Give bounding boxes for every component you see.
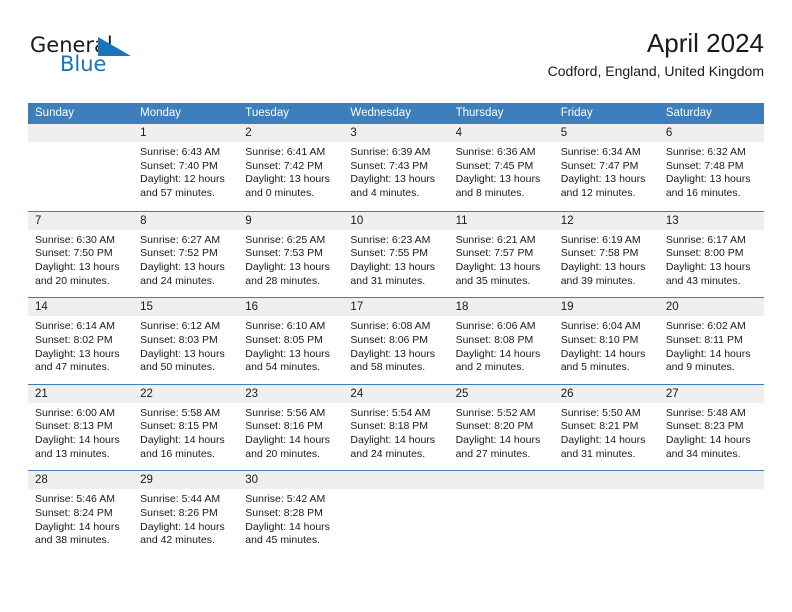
day-detail-line: and 54 minutes. [245, 361, 336, 375]
day-detail-line: and 20 minutes. [245, 448, 336, 462]
day-detail-line: and 16 minutes. [140, 448, 231, 462]
day-detail-line: Sunset: 7:48 PM [666, 160, 757, 174]
day-cell[interactable]: Sunrise: 6:19 AMSunset: 7:58 PMDaylight:… [554, 230, 659, 297]
day-detail-line: Sunrise: 5:48 AM [666, 407, 757, 421]
day-detail-line: Sunset: 7:40 PM [140, 160, 231, 174]
day-number[interactable]: 11 [449, 212, 554, 230]
day-detail-line: Daylight: 13 hours [245, 348, 336, 362]
day-detail-line: Sunrise: 6:34 AM [561, 146, 652, 160]
calendar-week-row: 78910111213Sunrise: 6:30 AMSunset: 7:50 … [28, 211, 764, 298]
day-detail-line: Daylight: 13 hours [561, 173, 652, 187]
day-cell[interactable]: Sunrise: 6:02 AMSunset: 8:11 PMDaylight:… [659, 316, 764, 383]
day-detail-line: Daylight: 14 hours [561, 348, 652, 362]
day-detail-line: Sunset: 8:11 PM [666, 334, 757, 348]
day-number[interactable]: 13 [659, 212, 764, 230]
day-number-band: 78910111213 [28, 212, 764, 230]
day-cell[interactable]: Sunrise: 6:00 AMSunset: 8:13 PMDaylight:… [28, 403, 133, 470]
day-detail-line: Sunset: 8:08 PM [456, 334, 547, 348]
day-detail-line: and 35 minutes. [456, 275, 547, 289]
day-number[interactable]: 7 [28, 212, 133, 230]
day-detail-line: and 47 minutes. [35, 361, 126, 375]
day-detail-line: Sunrise: 6:30 AM [35, 234, 126, 248]
day-detail-line: Daylight: 13 hours [35, 348, 126, 362]
day-detail-line: Sunrise: 6:08 AM [350, 320, 441, 334]
day-detail-line: Daylight: 13 hours [245, 173, 336, 187]
day-detail-line: and 9 minutes. [666, 361, 757, 375]
day-cell[interactable]: Sunrise: 5:48 AMSunset: 8:23 PMDaylight:… [659, 403, 764, 470]
day-detail-band: Sunrise: 6:30 AMSunset: 7:50 PMDaylight:… [28, 230, 764, 297]
day-cell[interactable]: Sunrise: 5:42 AMSunset: 8:28 PMDaylight:… [238, 489, 343, 556]
day-detail-line: Sunrise: 5:52 AM [456, 407, 547, 421]
day-detail-line: and 4 minutes. [350, 187, 441, 201]
day-cell[interactable]: Sunrise: 5:50 AMSunset: 8:21 PMDaylight:… [554, 403, 659, 470]
day-cell-empty [28, 142, 133, 209]
day-detail-line: Sunrise: 6:32 AM [666, 146, 757, 160]
day-cell[interactable]: Sunrise: 6:25 AMSunset: 7:53 PMDaylight:… [238, 230, 343, 297]
day-detail-line: Sunrise: 6:06 AM [456, 320, 547, 334]
day-detail-line: Sunset: 8:06 PM [350, 334, 441, 348]
day-number[interactable]: 25 [449, 385, 554, 403]
day-number-band: 282930 [28, 471, 764, 489]
day-number[interactable]: 29 [133, 471, 238, 489]
day-number[interactable]: 6 [659, 124, 764, 142]
day-detail-band: Sunrise: 5:46 AMSunset: 8:24 PMDaylight:… [28, 489, 764, 556]
day-detail-line: Sunset: 8:03 PM [140, 334, 231, 348]
day-detail-line: Sunset: 8:10 PM [561, 334, 652, 348]
day-detail-line: Sunset: 8:16 PM [245, 420, 336, 434]
day-number[interactable]: 12 [554, 212, 659, 230]
day-detail-line: Sunrise: 5:44 AM [140, 493, 231, 507]
day-detail-line: Sunset: 7:58 PM [561, 247, 652, 261]
day-detail-line: Daylight: 13 hours [456, 261, 547, 275]
calendar-page: General Blue April 2024 Codford, England… [0, 0, 792, 612]
day-detail-band: Sunrise: 6:00 AMSunset: 8:13 PMDaylight:… [28, 403, 764, 470]
day-cell[interactable]: Sunrise: 6:21 AMSunset: 7:57 PMDaylight:… [449, 230, 554, 297]
day-number[interactable]: 22 [133, 385, 238, 403]
day-detail-line: Sunrise: 6:17 AM [666, 234, 757, 248]
day-number[interactable]: 16 [238, 298, 343, 316]
day-detail-line: and 34 minutes. [666, 448, 757, 462]
day-detail-line: Sunrise: 6:43 AM [140, 146, 231, 160]
day-detail-line: Daylight: 14 hours [666, 348, 757, 362]
day-detail-line: Daylight: 13 hours [35, 261, 126, 275]
day-detail-line: and 39 minutes. [561, 275, 652, 289]
day-cell-empty [449, 489, 554, 556]
day-detail-line: Sunrise: 5:46 AM [35, 493, 126, 507]
page-subtitle: Codford, England, United Kingdom [548, 63, 764, 80]
day-detail-line: and 2 minutes. [456, 361, 547, 375]
day-detail-line: and 31 minutes. [350, 275, 441, 289]
day-number[interactable]: 23 [238, 385, 343, 403]
day-number-empty [28, 124, 133, 142]
day-detail-line: Daylight: 14 hours [35, 521, 126, 535]
day-detail-line: Sunset: 7:43 PM [350, 160, 441, 174]
day-detail-line: and 50 minutes. [140, 361, 231, 375]
day-cell[interactable]: Sunrise: 6:41 AMSunset: 7:42 PMDaylight:… [238, 142, 343, 209]
day-detail-line: and 16 minutes. [666, 187, 757, 201]
day-number-band: 14151617181920 [28, 298, 764, 316]
day-number[interactable]: 15 [133, 298, 238, 316]
day-cell-empty [343, 489, 448, 556]
day-cell[interactable]: Sunrise: 6:17 AMSunset: 8:00 PMDaylight:… [659, 230, 764, 297]
day-detail-line: Sunset: 8:23 PM [666, 420, 757, 434]
day-detail-line: Daylight: 14 hours [140, 434, 231, 448]
day-detail-band: Sunrise: 6:14 AMSunset: 8:02 PMDaylight:… [28, 316, 764, 383]
day-number[interactable]: 27 [659, 385, 764, 403]
day-detail-line: Daylight: 13 hours [245, 261, 336, 275]
day-detail-line: and 20 minutes. [35, 275, 126, 289]
day-detail-line: Sunrise: 5:58 AM [140, 407, 231, 421]
day-detail-line: and 12 minutes. [561, 187, 652, 201]
day-detail-line: and 38 minutes. [35, 534, 126, 548]
day-cell-empty [659, 489, 764, 556]
day-cell[interactable]: Sunrise: 5:58 AMSunset: 8:15 PMDaylight:… [133, 403, 238, 470]
day-detail-line: Sunset: 7:55 PM [350, 247, 441, 261]
day-detail-line: and 42 minutes. [140, 534, 231, 548]
calendar-week-row: 282930Sunrise: 5:46 AMSunset: 8:24 PMDay… [28, 470, 764, 557]
day-cell[interactable]: Sunrise: 5:56 AMSunset: 8:16 PMDaylight:… [238, 403, 343, 470]
day-detail-line: Sunrise: 6:27 AM [140, 234, 231, 248]
weekday-header-friday: Friday [554, 103, 659, 124]
day-detail-band: Sunrise: 6:43 AMSunset: 7:40 PMDaylight:… [28, 142, 764, 209]
day-cell[interactable]: Sunrise: 6:43 AMSunset: 7:40 PMDaylight:… [133, 142, 238, 209]
weekday-header-thursday: Thursday [449, 103, 554, 124]
day-detail-line: Sunrise: 6:21 AM [456, 234, 547, 248]
day-detail-line: Sunrise: 6:39 AM [350, 146, 441, 160]
day-detail-line: and 31 minutes. [561, 448, 652, 462]
day-cell[interactable]: Sunrise: 5:44 AMSunset: 8:26 PMDaylight:… [133, 489, 238, 556]
calendar-week-row: 21222324252627Sunrise: 6:00 AMSunset: 8:… [28, 384, 764, 471]
calendar-grid: Sunday Monday Tuesday Wednesday Thursday… [28, 103, 764, 557]
day-cell[interactable]: Sunrise: 5:46 AMSunset: 8:24 PMDaylight:… [28, 489, 133, 556]
day-cell[interactable]: Sunrise: 6:04 AMSunset: 8:10 PMDaylight:… [554, 316, 659, 383]
day-number[interactable]: 28 [28, 471, 133, 489]
day-detail-line: and 8 minutes. [456, 187, 547, 201]
day-detail-line: and 0 minutes. [245, 187, 336, 201]
day-cell[interactable]: Sunrise: 6:34 AMSunset: 7:47 PMDaylight:… [554, 142, 659, 209]
day-detail-line: Sunrise: 6:23 AM [350, 234, 441, 248]
day-detail-line: Daylight: 14 hours [666, 434, 757, 448]
day-detail-line: and 28 minutes. [245, 275, 336, 289]
day-number[interactable]: 10 [343, 212, 448, 230]
day-cell[interactable]: Sunrise: 6:36 AMSunset: 7:45 PMDaylight:… [449, 142, 554, 209]
title-block: April 2024 Codford, England, United King… [548, 28, 764, 80]
day-detail-line: Sunset: 7:53 PM [245, 247, 336, 261]
day-detail-line: Daylight: 13 hours [666, 261, 757, 275]
day-detail-line: Daylight: 12 hours [140, 173, 231, 187]
day-detail-line: Sunrise: 6:25 AM [245, 234, 336, 248]
day-detail-line: Daylight: 13 hours [666, 173, 757, 187]
weekday-header-wednesday: Wednesday [343, 103, 448, 124]
day-detail-line: and 43 minutes. [666, 275, 757, 289]
day-detail-line: Sunrise: 6:02 AM [666, 320, 757, 334]
day-detail-line: Sunrise: 5:42 AM [245, 493, 336, 507]
day-cell[interactable]: Sunrise: 6:30 AMSunset: 7:50 PMDaylight:… [28, 230, 133, 297]
day-detail-line: Sunset: 7:47 PM [561, 160, 652, 174]
day-cell[interactable]: Sunrise: 6:23 AMSunset: 7:55 PMDaylight:… [343, 230, 448, 297]
day-detail-line: and 45 minutes. [245, 534, 336, 548]
calendar-week-row: 14151617181920Sunrise: 6:14 AMSunset: 8:… [28, 297, 764, 384]
weekday-header-tuesday: Tuesday [238, 103, 343, 124]
day-detail-line: Sunset: 8:00 PM [666, 247, 757, 261]
page-masthead: General Blue April 2024 Codford, England… [28, 28, 764, 94]
day-detail-line: Sunrise: 6:12 AM [140, 320, 231, 334]
day-number[interactable]: 30 [238, 471, 343, 489]
day-cell[interactable]: Sunrise: 6:08 AMSunset: 8:06 PMDaylight:… [343, 316, 448, 383]
day-detail-line: Sunrise: 6:00 AM [35, 407, 126, 421]
day-detail-line: and 58 minutes. [350, 361, 441, 375]
day-detail-line: Sunrise: 6:10 AM [245, 320, 336, 334]
day-cell[interactable]: Sunrise: 6:39 AMSunset: 7:43 PMDaylight:… [343, 142, 448, 209]
day-cell[interactable]: Sunrise: 6:06 AMSunset: 8:08 PMDaylight:… [449, 316, 554, 383]
day-number[interactable]: 14 [28, 298, 133, 316]
day-number[interactable]: 3 [343, 124, 448, 142]
day-number[interactable]: 17 [343, 298, 448, 316]
day-cell[interactable]: Sunrise: 6:14 AMSunset: 8:02 PMDaylight:… [28, 316, 133, 383]
day-detail-line: Sunset: 7:45 PM [456, 160, 547, 174]
weekday-header-monday: Monday [133, 103, 238, 124]
weekday-header-row: Sunday Monday Tuesday Wednesday Thursday… [28, 103, 764, 124]
day-number-band: 123456 [28, 124, 764, 142]
day-detail-line: Daylight: 13 hours [456, 173, 547, 187]
day-detail-line: Sunset: 7:52 PM [140, 247, 231, 261]
day-detail-line: Sunrise: 5:56 AM [245, 407, 336, 421]
page-title: April 2024 [548, 28, 764, 58]
day-detail-line: Daylight: 13 hours [350, 348, 441, 362]
day-detail-line: Sunrise: 5:54 AM [350, 407, 441, 421]
day-detail-line: Daylight: 14 hours [140, 521, 231, 535]
day-detail-line: and 27 minutes. [456, 448, 547, 462]
day-number[interactable]: 8 [133, 212, 238, 230]
day-detail-line: Sunset: 8:26 PM [140, 507, 231, 521]
day-detail-line: Daylight: 13 hours [350, 173, 441, 187]
day-detail-line: Sunset: 8:02 PM [35, 334, 126, 348]
day-detail-line: and 24 minutes. [140, 275, 231, 289]
day-number[interactable]: 21 [28, 385, 133, 403]
day-number[interactable]: 26 [554, 385, 659, 403]
day-detail-line: Daylight: 14 hours [456, 348, 547, 362]
day-detail-line: Daylight: 14 hours [350, 434, 441, 448]
day-detail-line: Sunrise: 6:41 AM [245, 146, 336, 160]
day-detail-line: Daylight: 14 hours [456, 434, 547, 448]
day-detail-line: Sunset: 8:24 PM [35, 507, 126, 521]
day-detail-line: and 57 minutes. [140, 187, 231, 201]
logo-text-blue: Blue [60, 54, 106, 75]
day-number-band: 21222324252627 [28, 385, 764, 403]
day-detail-line: Daylight: 13 hours [561, 261, 652, 275]
day-cell[interactable]: Sunrise: 6:10 AMSunset: 8:05 PMDaylight:… [238, 316, 343, 383]
day-cell-empty [554, 489, 659, 556]
day-number[interactable]: 18 [449, 298, 554, 316]
day-detail-line: Sunset: 8:15 PM [140, 420, 231, 434]
day-detail-line: Sunset: 8:13 PM [35, 420, 126, 434]
day-detail-line: Sunset: 8:18 PM [350, 420, 441, 434]
day-cell[interactable]: Sunrise: 6:32 AMSunset: 7:48 PMDaylight:… [659, 142, 764, 209]
day-number[interactable]: 4 [449, 124, 554, 142]
day-detail-line: Sunset: 7:42 PM [245, 160, 336, 174]
day-number-empty [554, 471, 659, 489]
day-detail-line: Daylight: 13 hours [140, 261, 231, 275]
day-detail-line: and 5 minutes. [561, 361, 652, 375]
day-detail-line: Daylight: 14 hours [245, 521, 336, 535]
day-number[interactable]: 5 [554, 124, 659, 142]
day-detail-line: Sunset: 8:21 PM [561, 420, 652, 434]
day-number-empty [659, 471, 764, 489]
day-cell[interactable]: Sunrise: 5:52 AMSunset: 8:20 PMDaylight:… [449, 403, 554, 470]
weekday-header-sunday: Sunday [28, 103, 133, 124]
day-detail-line: Daylight: 14 hours [35, 434, 126, 448]
day-detail-line: Sunrise: 5:50 AM [561, 407, 652, 421]
day-detail-line: Sunset: 8:20 PM [456, 420, 547, 434]
day-number[interactable]: 2 [238, 124, 343, 142]
day-number[interactable]: 9 [238, 212, 343, 230]
day-number-empty [343, 471, 448, 489]
day-detail-line: Sunset: 8:05 PM [245, 334, 336, 348]
day-detail-line: and 24 minutes. [350, 448, 441, 462]
day-detail-line: Daylight: 14 hours [245, 434, 336, 448]
day-detail-line: Sunset: 8:28 PM [245, 507, 336, 521]
day-number-empty [449, 471, 554, 489]
day-cell[interactable]: Sunrise: 6:12 AMSunset: 8:03 PMDaylight:… [133, 316, 238, 383]
day-cell[interactable]: Sunrise: 5:54 AMSunset: 8:18 PMDaylight:… [343, 403, 448, 470]
day-number[interactable]: 20 [659, 298, 764, 316]
day-detail-line: and 13 minutes. [35, 448, 126, 462]
day-detail-line: Daylight: 13 hours [350, 261, 441, 275]
day-cell[interactable]: Sunrise: 6:27 AMSunset: 7:52 PMDaylight:… [133, 230, 238, 297]
day-detail-line: Sunrise: 6:36 AM [456, 146, 547, 160]
day-number[interactable]: 1 [133, 124, 238, 142]
calendar-weeks: 123456Sunrise: 6:43 AMSunset: 7:40 PMDay… [28, 124, 764, 557]
day-detail-line: Sunrise: 6:14 AM [35, 320, 126, 334]
day-number[interactable]: 19 [554, 298, 659, 316]
day-detail-line: Sunset: 7:57 PM [456, 247, 547, 261]
day-detail-line: Sunset: 7:50 PM [35, 247, 126, 261]
general-blue-logo[interactable]: General Blue [30, 35, 200, 83]
day-detail-line: Daylight: 13 hours [140, 348, 231, 362]
weekday-header-saturday: Saturday [659, 103, 764, 124]
day-detail-line: Daylight: 14 hours [561, 434, 652, 448]
day-detail-line: Sunrise: 6:04 AM [561, 320, 652, 334]
day-detail-line: Sunrise: 6:19 AM [561, 234, 652, 248]
calendar-week-row: 123456Sunrise: 6:43 AMSunset: 7:40 PMDay… [28, 124, 764, 211]
day-number[interactable]: 24 [343, 385, 448, 403]
